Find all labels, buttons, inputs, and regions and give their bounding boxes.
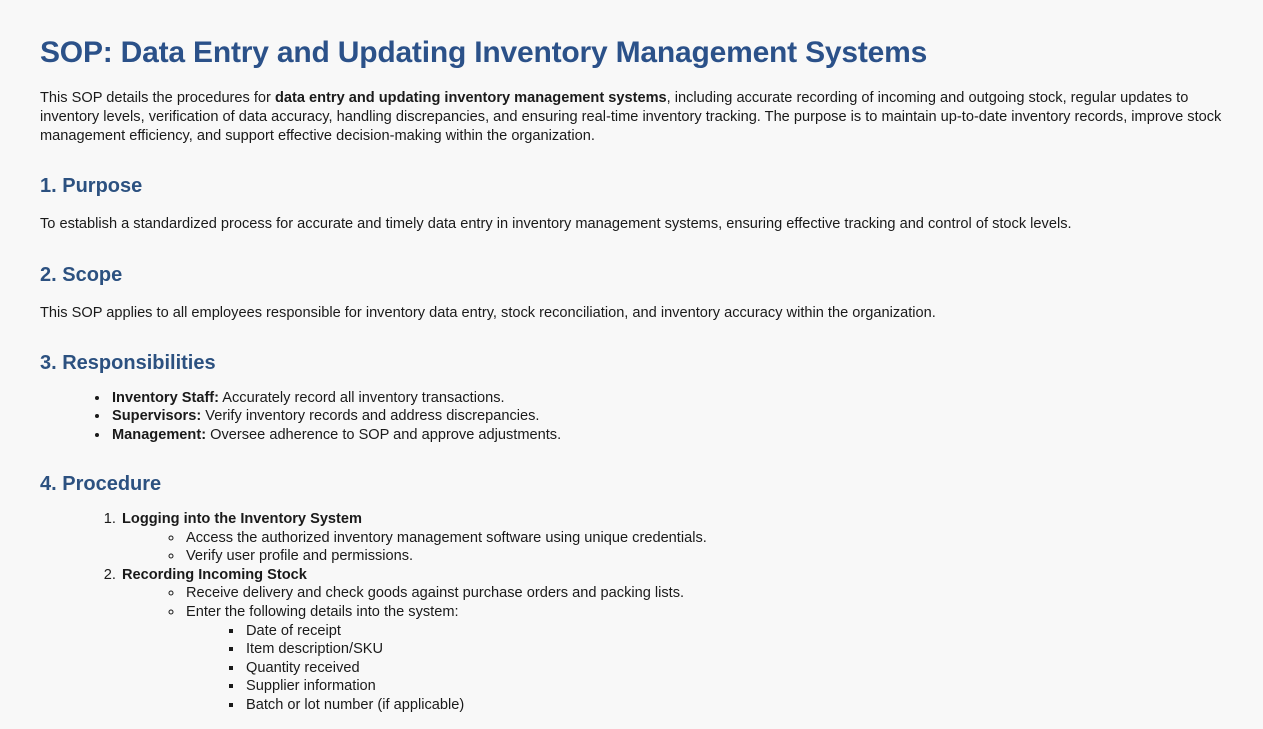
section-heading-responsibilities: 3. Responsibilities (40, 351, 1223, 375)
responsibility-text: Accurately record all inventory transact… (219, 390, 505, 406)
list-item: Verify user profile and permissions. (184, 547, 1223, 566)
procedure-step-title: Logging into the Inventory System (122, 511, 362, 527)
section-heading-purpose: 1. Purpose (40, 174, 1223, 198)
procedure-detail-text: Supplier information (246, 678, 376, 694)
responsibility-role: Supervisors: (112, 408, 201, 424)
responsibility-role: Inventory Staff: (112, 390, 219, 406)
section-body-purpose: To establish a standardized process for … (40, 215, 1223, 234)
list-item: Access the authorized inventory manageme… (184, 529, 1223, 548)
responsibility-role: Management: (112, 427, 206, 443)
procedure-detail-list: Date of receipt Item description/SKU Qua… (186, 622, 1223, 715)
procedure-list: Logging into the Inventory System Access… (40, 510, 1223, 714)
section-heading-procedure: 4. Procedure (40, 472, 1223, 496)
procedure-substep-text: Access the authorized inventory manageme… (186, 530, 707, 546)
intro-paragraph: This SOP details the procedures for data… (40, 89, 1223, 147)
procedure-substep-list: Receive delivery and check goods against… (122, 584, 1223, 714)
procedure-detail-text: Item description/SKU (246, 641, 383, 657)
responsibility-text: Oversee adherence to SOP and approve adj… (206, 427, 561, 443)
section-heading-scope: 2. Scope (40, 263, 1223, 287)
responsibility-text: Verify inventory records and address dis… (201, 408, 539, 424)
list-item: Quantity received (244, 659, 1223, 678)
procedure-detail-text: Quantity received (246, 660, 360, 676)
list-item: Receive delivery and check goods against… (184, 584, 1223, 603)
list-item: Date of receipt (244, 622, 1223, 641)
section-body-scope: This SOP applies to all employees respon… (40, 304, 1223, 323)
list-item: Enter the following details into the sys… (184, 603, 1223, 714)
procedure-substep-text: Enter the following details into the sys… (186, 604, 459, 620)
intro-text-bold: data entry and updating inventory manage… (275, 90, 667, 106)
list-item: Batch or lot number (if applicable) (244, 696, 1223, 715)
procedure-detail-text: Date of receipt (246, 623, 341, 639)
responsibilities-list: Inventory Staff: Accurately record all i… (40, 389, 1223, 445)
procedure-detail-text: Batch or lot number (if applicable) (246, 697, 464, 713)
page-title: SOP: Data Entry and Updating Inventory M… (40, 36, 1223, 71)
procedure-step-title: Recording Incoming Stock (122, 567, 307, 583)
procedure-substep-text: Receive delivery and check goods against… (186, 585, 684, 601)
list-item: Management: Oversee adherence to SOP and… (110, 426, 1223, 445)
list-item: Logging into the Inventory System Access… (120, 510, 1223, 566)
document-page: SOP: Data Entry and Updating Inventory M… (0, 0, 1263, 714)
intro-text-part1: This SOP details the procedures for (40, 90, 275, 106)
procedure-substep-text: Verify user profile and permissions. (186, 548, 413, 564)
list-item: Supplier information (244, 677, 1223, 696)
list-item: Inventory Staff: Accurately record all i… (110, 389, 1223, 408)
list-item: Supervisors: Verify inventory records an… (110, 407, 1223, 426)
list-item: Recording Incoming Stock Receive deliver… (120, 566, 1223, 714)
procedure-substep-list: Access the authorized inventory manageme… (122, 529, 1223, 566)
list-item: Item description/SKU (244, 640, 1223, 659)
